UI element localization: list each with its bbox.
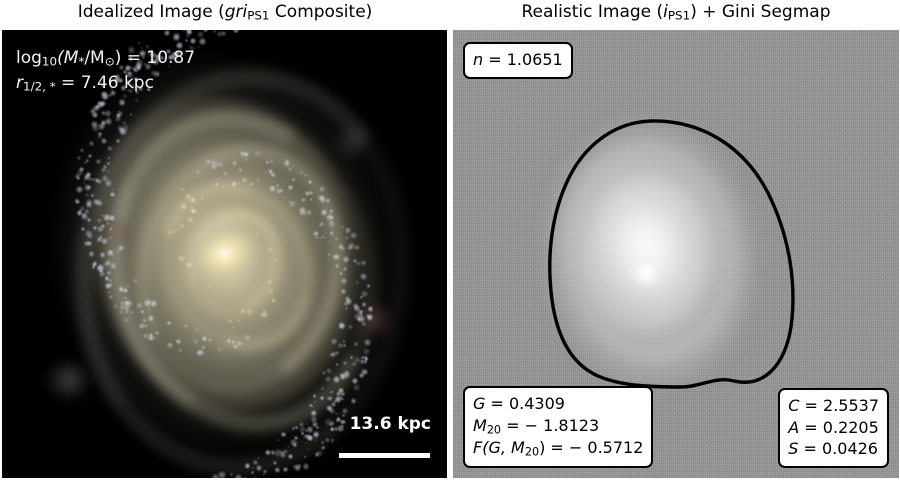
star-cluster-knot	[237, 319, 240, 322]
star-cluster-knot	[336, 363, 339, 366]
sersic-symbol: n	[473, 50, 483, 69]
star-cluster-knot	[96, 159, 101, 164]
star-cluster-knot	[86, 201, 93, 208]
star-cluster-knot	[93, 226, 97, 230]
star-cluster-knot	[292, 427, 295, 430]
star-cluster-knot	[167, 342, 174, 349]
star-cluster-knot	[288, 185, 294, 191]
star-cluster-knot	[180, 224, 185, 229]
star-cluster-knot	[363, 348, 370, 355]
star-cluster-knot	[270, 160, 273, 163]
star-cluster-knot	[342, 414, 345, 417]
star-cluster-knot	[341, 289, 346, 294]
star-cluster-knot	[339, 412, 341, 414]
star-cluster-knot	[227, 339, 231, 343]
star-cluster-knot	[328, 396, 333, 401]
star-cluster-knot	[190, 197, 196, 203]
star-cluster-knot	[207, 285, 210, 288]
star-cluster-knot	[110, 262, 117, 269]
star-cluster-knot	[364, 339, 371, 346]
star-cluster-knot	[180, 203, 187, 210]
star-cluster-knot	[243, 477, 247, 478]
star-cluster-knot	[88, 177, 92, 181]
star-cluster-knot	[343, 256, 350, 263]
star-cluster-knot	[110, 192, 115, 197]
star-cluster-knot	[130, 311, 134, 315]
star-cluster-knot	[303, 434, 307, 438]
star-cluster-knot	[321, 446, 325, 450]
star-cluster-knot	[334, 427, 338, 431]
star-cluster-knot	[101, 138, 107, 144]
star-cluster-knot	[87, 233, 93, 239]
star-cluster-knot	[315, 236, 319, 240]
star-cluster-knot	[341, 278, 347, 284]
star-cluster-knot	[99, 269, 103, 273]
star-cluster-knot	[244, 334, 251, 341]
star-cluster-knot	[197, 175, 199, 177]
star-cluster-knot	[84, 241, 89, 246]
gini-symbol: G	[473, 394, 485, 413]
star-cluster-knot	[271, 298, 277, 304]
left-title-suffix: Composite)	[270, 2, 373, 22]
star-cluster-knot	[103, 165, 108, 170]
star-cluster-knot	[90, 108, 97, 115]
right-title-suffix: ) + Gini Segmap	[690, 2, 830, 22]
left-panel-title: Idealized Image (griPS1 Composite)	[2, 2, 448, 23]
star-cluster-knot	[331, 439, 333, 441]
star-cluster-knot	[256, 178, 260, 182]
radius-subscript: 1/2, *	[23, 79, 56, 93]
star-cluster-knot	[269, 185, 276, 192]
mass-denominator: /M	[84, 48, 104, 68]
star-cluster-knot	[108, 157, 111, 160]
star-cluster-knot	[331, 428, 334, 431]
star-cluster-knot	[360, 273, 367, 280]
star-cluster-knot	[124, 300, 130, 306]
star-cluster-knot	[333, 376, 340, 383]
star-cluster-knot	[304, 175, 306, 177]
star-cluster-knot	[315, 452, 320, 457]
star-cluster-knot	[122, 124, 129, 131]
star-cluster-knot	[276, 184, 279, 187]
star-cluster-knot	[321, 387, 324, 390]
star-cluster-knot	[326, 198, 331, 203]
star-cluster-knot	[288, 446, 290, 448]
sersic-value: = 1.0651	[483, 50, 563, 69]
f-equals: ) =	[539, 438, 569, 457]
star-cluster-knot	[138, 42, 140, 44]
gini-value: 0.4309	[509, 394, 565, 413]
star-cluster-knot	[361, 260, 367, 266]
star-cluster-knot	[367, 316, 372, 321]
star-cluster-knot	[118, 245, 124, 251]
sersic-index-box: n = 1.0651	[463, 42, 573, 79]
star-cluster-knot	[75, 198, 80, 203]
star-cluster-knot	[148, 308, 150, 310]
star-cluster-knot	[77, 210, 83, 216]
star-cluster-knot	[314, 439, 316, 441]
left-title-italic: gri	[225, 2, 248, 22]
star-cluster-knot	[340, 246, 345, 251]
star-cluster-knot	[215, 182, 220, 187]
star-cluster-knot	[187, 216, 194, 223]
star-cluster-knot	[281, 432, 286, 437]
star-cluster-knot	[235, 474, 242, 478]
star-cluster-knot	[320, 237, 322, 239]
star-cluster-knot	[345, 236, 349, 240]
star-cluster-knot	[85, 193, 89, 197]
star-cluster-knot	[343, 302, 348, 307]
star-cluster-knot	[313, 431, 320, 438]
star-cluster-knot	[198, 46, 200, 48]
star-cluster-knot	[81, 227, 85, 231]
star-cluster-knot	[190, 209, 195, 214]
star-cluster-knot	[288, 454, 293, 459]
star-cluster-knot	[107, 170, 110, 173]
star-cluster-knot	[107, 146, 113, 152]
star-cluster-knot	[323, 236, 326, 239]
asymmetry-line: A = 0.2205	[788, 417, 879, 439]
star-cluster-knot	[361, 291, 368, 298]
star-cluster-knot	[362, 302, 367, 307]
star-cluster-knot	[350, 232, 357, 239]
star-cluster-knot	[321, 209, 328, 216]
star-cluster-knot	[338, 343, 343, 348]
star-cluster-knot	[308, 180, 312, 184]
star-cluster-knot	[98, 201, 103, 206]
star-cluster-knot	[333, 254, 340, 261]
star-cluster-knot	[217, 347, 222, 352]
star-cluster-knot	[313, 231, 319, 237]
star-cluster-knot	[305, 442, 307, 444]
star-cluster-knot	[241, 177, 248, 184]
star-cluster-knot	[89, 251, 95, 257]
star-cluster-knot	[120, 310, 124, 314]
star-cluster-knot	[252, 467, 254, 469]
star-cluster-knot	[109, 295, 113, 299]
star-cluster-knot	[264, 171, 268, 175]
star-cluster-knot	[177, 217, 181, 221]
star-cluster-knot	[352, 362, 356, 366]
star-cluster-knot	[186, 34, 190, 38]
star-cluster-knot	[112, 188, 114, 190]
star-cluster-knot	[89, 141, 95, 147]
star-cluster-knot	[306, 210, 312, 216]
star-cluster-knot	[304, 456, 306, 458]
star-cluster-knot	[230, 473, 233, 476]
star-cluster-knot	[254, 232, 260, 238]
star-cluster-knot	[148, 315, 155, 322]
half-mass-radius-line: r1/2, * = 7.46 kpc	[16, 71, 195, 96]
right-panel-title: Realistic Image (iPS1) + Gini Segmap	[453, 2, 899, 23]
star-cluster-knot	[328, 241, 331, 244]
star-cluster-knot	[292, 165, 294, 167]
star-cluster-knot	[341, 226, 343, 228]
star-cluster-knot	[100, 252, 106, 258]
star-cluster-knot	[123, 317, 129, 323]
star-cluster-knot	[339, 396, 343, 400]
star-cluster-knot	[107, 222, 109, 224]
star-cluster-knot	[245, 158, 248, 161]
star-cluster-knot	[108, 236, 113, 241]
star-cluster-knot	[133, 279, 138, 284]
star-cluster-knot	[330, 391, 333, 394]
star-cluster-knot	[256, 465, 262, 471]
star-cluster-knot	[359, 373, 364, 378]
star-cluster-knot	[332, 235, 335, 238]
star-cluster-knot	[218, 162, 223, 167]
star-cluster-knot	[321, 441, 324, 444]
star-cluster-knot	[288, 167, 292, 171]
star-cluster-knot	[319, 222, 324, 227]
m20-subscript: 20	[487, 423, 501, 436]
star-cluster-knot	[233, 344, 238, 349]
stellar-mass-value: ) = 10.87	[115, 48, 195, 68]
star-cluster-knot	[196, 170, 200, 174]
left-title-subscript: PS1	[247, 9, 269, 23]
star-cluster-knot	[263, 473, 265, 475]
star-cluster-knot	[76, 186, 83, 193]
star-cluster-knot	[197, 31, 204, 38]
star-cluster-knot	[335, 351, 339, 355]
star-cluster-knot	[202, 337, 207, 342]
star-cluster-knot	[348, 243, 355, 250]
star-cluster-knot	[80, 149, 84, 153]
star-cluster-knot	[297, 441, 299, 443]
smoothness-symbol: S	[788, 439, 798, 458]
star-cluster-knot	[276, 188, 282, 194]
star-cluster-knot	[292, 178, 295, 181]
star-cluster-knot	[331, 441, 333, 443]
star-cluster-knot	[301, 198, 306, 203]
star-cluster-knot	[339, 272, 342, 275]
star-cluster-knot	[208, 338, 213, 343]
star-cluster-knot	[101, 238, 108, 245]
scalebar-line	[339, 453, 430, 458]
star-cluster-knot	[202, 346, 205, 349]
star-cluster-knot	[283, 449, 288, 454]
concentration-line: C = 2.5537	[788, 395, 879, 417]
star-cluster-knot	[141, 310, 144, 313]
star-cluster-knot	[268, 288, 274, 294]
star-cluster-knot	[343, 344, 347, 348]
star-cluster-knot	[327, 253, 331, 257]
star-cluster-knot	[153, 336, 156, 339]
star-cluster-knot	[239, 168, 243, 172]
star-cluster-knot	[190, 38, 197, 45]
star-cluster-knot	[77, 170, 84, 177]
star-cluster-knot	[109, 279, 112, 282]
star-cluster-knot	[329, 423, 332, 426]
star-cluster-knot	[240, 309, 246, 315]
star-cluster-knot	[330, 221, 333, 224]
star-cluster-knot	[267, 246, 274, 253]
star-cluster-knot	[303, 463, 309, 469]
star-cluster-knot	[319, 186, 325, 192]
star-cluster-knot	[136, 302, 143, 309]
star-cluster-knot	[325, 232, 327, 234]
star-cluster-knot	[273, 461, 277, 465]
star-cluster-knot	[228, 319, 232, 323]
star-cluster-knot	[179, 349, 182, 352]
star-cluster-knot	[113, 304, 118, 309]
star-cluster-knot	[351, 398, 356, 403]
star-cluster-knot	[343, 340, 346, 343]
stellar-properties-annotation: log10(M*/M⊙) = 10.87 r1/2, * = 7.46 kpc	[16, 46, 195, 96]
star-cluster-knot	[184, 324, 188, 328]
star-cluster-knot	[283, 467, 288, 472]
star-cluster-knot	[268, 169, 273, 174]
f-subscript: 20	[525, 446, 539, 459]
star-cluster-knot	[186, 262, 193, 269]
star-cluster-knot	[232, 326, 235, 329]
star-cluster-knot	[335, 238, 337, 240]
concentration-symbol: C	[788, 396, 799, 415]
star-cluster-knot	[213, 30, 216, 33]
star-cluster-knot	[362, 322, 366, 326]
star-cluster-knot	[123, 288, 128, 293]
star-cluster-knot	[246, 308, 254, 316]
star-cluster-knot	[354, 342, 358, 346]
star-cluster-knot	[180, 187, 185, 192]
star-cluster-knot	[273, 259, 277, 263]
stellar-mass-line: log10(M*/M⊙) = 10.87	[16, 46, 195, 71]
gini-line: G = 0.4309	[473, 393, 643, 415]
star-cluster-knot	[354, 245, 359, 250]
star-cluster-knot	[254, 477, 256, 478]
star-cluster-knot	[231, 181, 237, 187]
star-cluster-knot	[320, 396, 325, 401]
star-cluster-knot	[167, 321, 172, 326]
star-cluster-knot	[310, 198, 313, 201]
star-cluster-knot	[85, 209, 90, 214]
star-cluster-knot	[340, 374, 346, 380]
star-cluster-knot	[109, 215, 115, 221]
star-cluster-knot	[211, 164, 217, 170]
m20-symbol: M	[473, 416, 487, 435]
star-cluster-knot	[232, 161, 237, 166]
figure-root: Idealized Image (griPS1 Composite) Reali…	[0, 0, 900, 484]
star-cluster-knot	[341, 420, 345, 424]
star-cluster-knot	[105, 118, 112, 125]
smoothness-line: S = 0.0426	[788, 438, 879, 460]
m20-line: M20 = − 1.8123	[473, 415, 643, 438]
star-cluster-knot	[109, 227, 113, 231]
right-title-subscript: PS1	[668, 9, 690, 23]
log-base: 10	[42, 55, 57, 69]
star-cluster-knot	[356, 261, 361, 266]
star-cluster-knot	[250, 182, 254, 186]
star-cluster-knot	[193, 339, 198, 344]
star-cluster-knot	[224, 172, 226, 174]
left-title-prefix: Idealized Image (	[78, 2, 225, 22]
star-cluster-knot	[267, 279, 272, 284]
star-cluster-knot	[255, 150, 261, 156]
star-cluster-knot	[309, 191, 314, 196]
star-cluster-knot	[300, 171, 303, 174]
star-cluster-knot	[343, 361, 347, 365]
star-cluster-knot	[150, 300, 157, 307]
asymmetry-symbol: A	[788, 418, 799, 437]
star-cluster-knot	[116, 139, 120, 143]
radius-value: = 7.46 kpc	[56, 73, 154, 93]
star-cluster-knot	[343, 267, 347, 271]
star-cluster-knot	[277, 439, 280, 442]
star-cluster-knot	[306, 423, 308, 425]
smoothness-value: 0.0426	[822, 439, 878, 458]
star-cluster-knot	[271, 450, 274, 453]
star-cluster-knot	[182, 30, 185, 31]
idealized-image-panel: log10(M*/M⊙) = 10.87 r1/2, * = 7.46 kpc …	[2, 30, 447, 478]
star-cluster-knot	[260, 313, 264, 317]
star-cluster-knot	[101, 224, 105, 228]
star-cluster-knot	[325, 376, 330, 381]
star-cluster-knot	[335, 413, 338, 416]
star-cluster-knot	[331, 338, 338, 345]
star-cluster-knot	[77, 156, 81, 160]
star-cluster-knot	[274, 174, 276, 176]
cas-statistics-box: C = 2.5537 A = 0.2205 S = 0.0426	[778, 388, 889, 468]
star-cluster-knot	[335, 264, 339, 268]
star-forming-knots	[2, 30, 447, 478]
star-cluster-knot	[206, 159, 211, 164]
asymmetry-value: 0.2205	[823, 418, 879, 437]
star-cluster-knot	[212, 474, 219, 478]
star-cluster-knot	[270, 261, 274, 265]
star-cluster-knot	[218, 471, 226, 478]
realistic-image-panel: n = 1.0651 G = 0.4309 M20 = − 1.8123 F(G…	[453, 30, 899, 478]
star-cluster-knot	[176, 339, 181, 344]
concentration-value: 2.5537	[823, 396, 879, 415]
star-cluster-knot	[176, 228, 179, 231]
f-gini-m20-line: F(G, M20) = − 0.5712	[473, 437, 643, 460]
star-cluster-knot	[173, 33, 180, 40]
star-cluster-knot	[251, 471, 254, 474]
star-cluster-knot	[293, 443, 297, 447]
star-cluster-knot	[221, 184, 225, 188]
radius-symbol: r	[16, 73, 23, 93]
star-cluster-knot	[155, 331, 159, 335]
star-cluster-knot	[329, 353, 334, 358]
star-cluster-knot	[196, 328, 199, 331]
star-cluster-knot	[265, 450, 271, 456]
star-cluster-knot	[201, 197, 204, 200]
star-cluster-knot	[86, 159, 89, 162]
star-cluster-knot	[244, 152, 249, 157]
star-cluster-knot	[105, 283, 111, 289]
star-cluster-knot	[311, 416, 317, 422]
star-cluster-knot	[199, 38, 206, 45]
star-cluster-knot	[326, 368, 332, 374]
star-cluster-knot	[139, 323, 145, 329]
star-cluster-knot	[107, 250, 113, 256]
star-cluster-knot	[342, 408, 348, 414]
star-cluster-knot	[295, 426, 298, 429]
star-cluster-knot	[238, 182, 240, 184]
star-cluster-knot	[107, 162, 110, 165]
star-cluster-knot	[91, 194, 94, 197]
star-cluster-knot	[356, 281, 359, 284]
star-cluster-knot	[221, 31, 226, 36]
realistic-galaxy-core	[629, 257, 663, 287]
star-cluster-knot	[283, 196, 286, 199]
star-cluster-knot	[130, 113, 133, 116]
star-cluster-knot	[313, 394, 317, 398]
star-cluster-knot	[105, 110, 112, 117]
star-cluster-knot	[88, 154, 92, 158]
f-symbol: F(G, M	[473, 438, 525, 457]
star-cluster-knot	[280, 451, 282, 453]
